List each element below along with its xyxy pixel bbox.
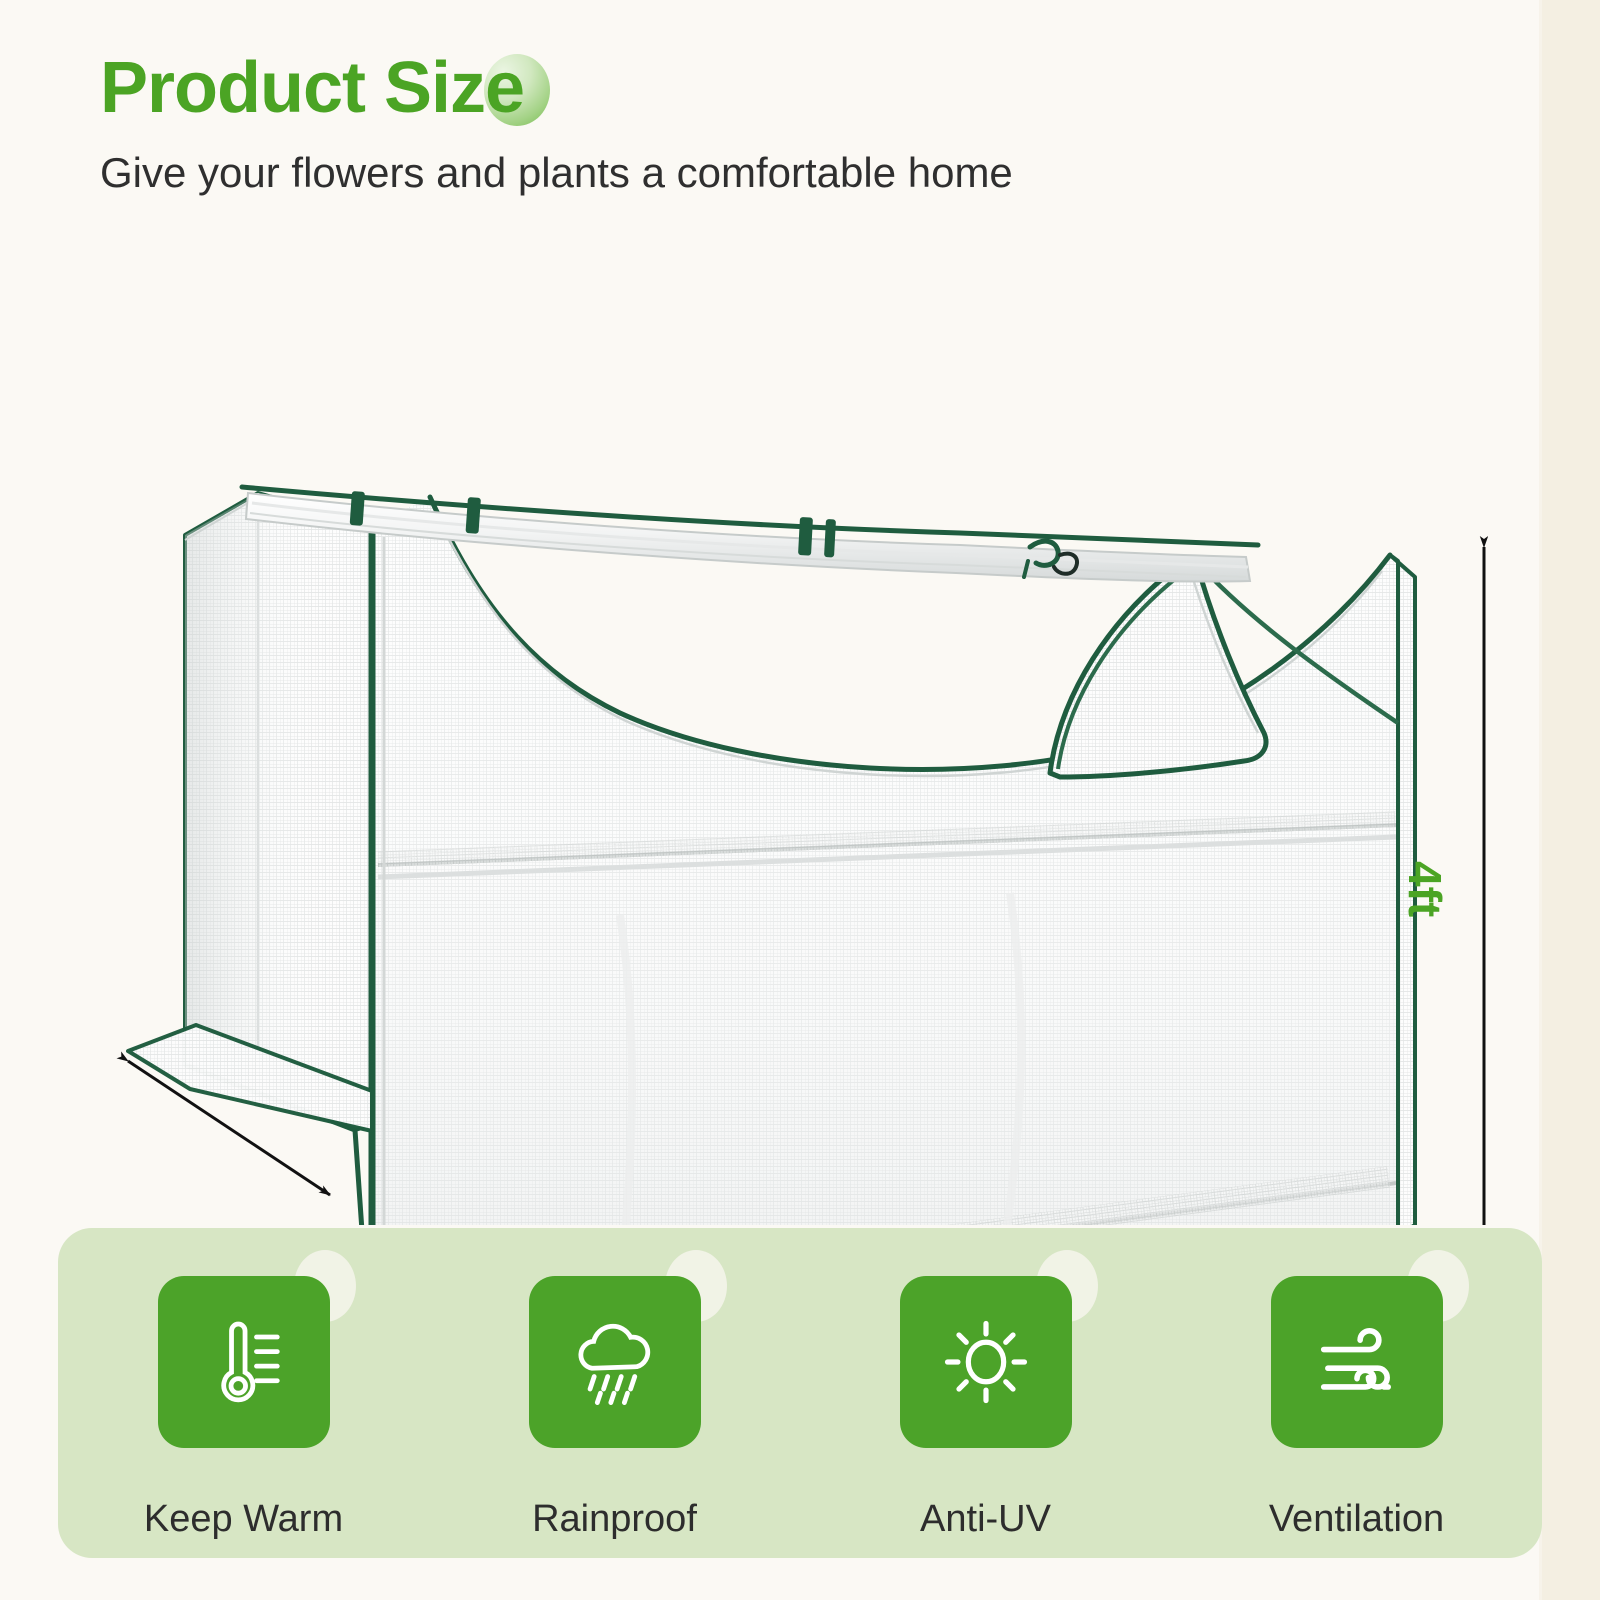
dimension-label-height: 4ft bbox=[1398, 861, 1452, 917]
feature-tile bbox=[158, 1276, 330, 1448]
page-title: Product Size bbox=[100, 52, 524, 124]
feature-tile-wrap bbox=[900, 1276, 1072, 1448]
page-title-wrap: Product Size bbox=[100, 52, 524, 124]
feature-tile bbox=[529, 1276, 701, 1448]
feature-keep-warm: Keep Warm bbox=[58, 1228, 429, 1538]
feature-tile-wrap bbox=[158, 1276, 330, 1448]
feature-label: Rainproof bbox=[532, 1500, 697, 1538]
feature-label: Anti-UV bbox=[920, 1500, 1051, 1538]
feature-label: Keep Warm bbox=[144, 1500, 343, 1538]
greenhouse-drawing bbox=[0, 225, 1600, 1225]
feature-rainproof: Rainproof bbox=[429, 1228, 800, 1538]
feature-label: Ventilation bbox=[1269, 1500, 1444, 1538]
features-panel: Keep Warm Rainproof bbox=[58, 1228, 1542, 1558]
rain-cloud-icon bbox=[563, 1310, 667, 1414]
feature-tile-wrap bbox=[1271, 1276, 1443, 1448]
product-illustration: 6.3ft 4ft 3.3ft bbox=[0, 225, 1600, 1225]
sun-icon bbox=[934, 1310, 1038, 1414]
feature-anti-uv: Anti-UV bbox=[800, 1228, 1171, 1538]
feature-tile-wrap bbox=[529, 1276, 701, 1448]
feature-tile bbox=[900, 1276, 1072, 1448]
feature-tile bbox=[1271, 1276, 1443, 1448]
thermometer-icon bbox=[192, 1310, 296, 1414]
header: Product Size Give your flowers and plant… bbox=[100, 52, 1400, 196]
feature-ventilation: Ventilation bbox=[1171, 1228, 1542, 1538]
page-subtitle: Give your flowers and plants a comfortab… bbox=[100, 150, 1400, 196]
wind-icon bbox=[1305, 1310, 1409, 1414]
